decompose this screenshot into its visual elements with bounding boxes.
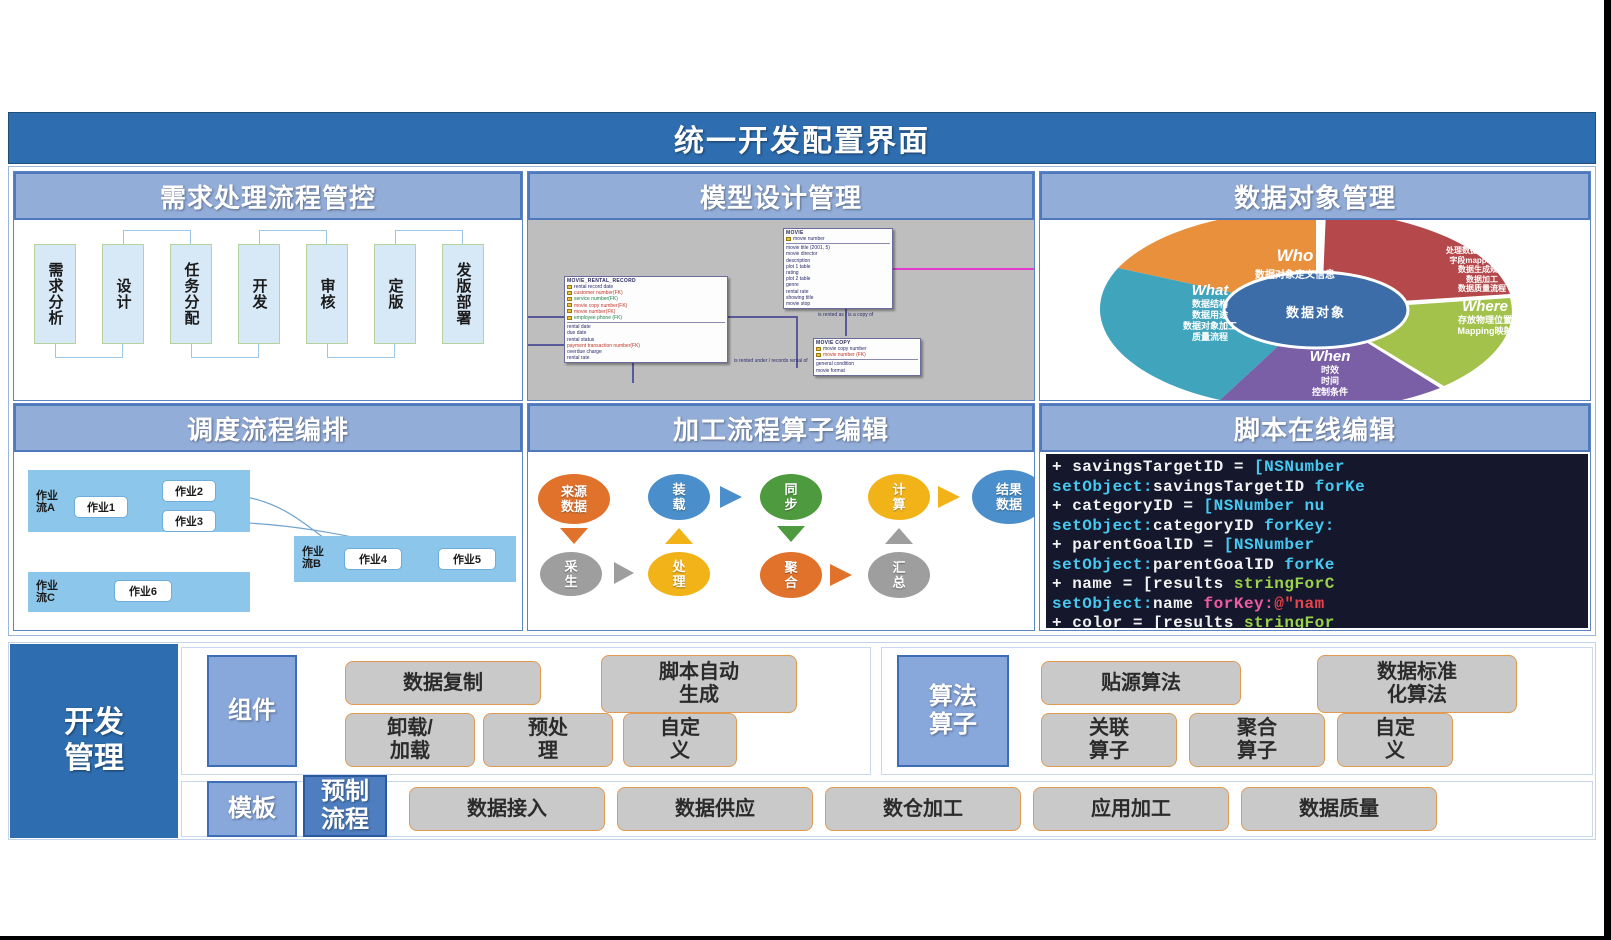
chip-source-adherence-algorithm[interactable]: 贴源算法 [1041,661,1241,705]
er-diagram-canvas[interactable]: MOVIE_RENTAL_RECORD rental record date c… [528,220,1034,400]
chip-custom-component[interactable]: 自定义 [623,713,737,767]
code-line: + name = [results stringForC [1052,575,1588,595]
chip-script-auto-generation[interactable]: 脚本自动生成 [601,655,797,713]
chip-aggregation-operator[interactable]: 聚合算子 [1189,713,1325,767]
operator-node-source[interactable]: 来源数据 [538,474,610,524]
code-line: setObject:savingsTargetID forKe [1052,478,1588,498]
chip-data-replication[interactable]: 数据复制 [345,661,541,705]
chip-data-ingestion[interactable]: 数据接入 [409,787,605,831]
code-line: setObject:name forKey:@"nam [1052,595,1588,615]
er-field-row: movie format [816,368,918,374]
code-line: + savingsTargetID = [NSNumber [1052,458,1588,478]
flow-step-4[interactable]: 审核 [306,244,348,344]
job-node-5[interactable]: 作业5 [438,548,496,570]
operator-node-summary[interactable]: 汇总 [868,552,930,598]
operator-node-extract[interactable]: 采生 [540,552,602,596]
chip-preprocess[interactable]: 预处理 [483,713,613,767]
panel-requirement-process[interactable]: 需求处理流程管控 需求分析 设计 任务分配 开发 审核 定版 发版部署 [13,171,523,401]
development-management-content: 组件 数据复制 脚本自动生成 卸载/加载 预处理 自定义 算法算子 贴源算法 数… [181,647,1593,837]
flow-connector-bottom-3 [327,344,395,358]
job-node-3[interactable]: 作业3 [162,510,216,532]
schedule-group-a-label: 作业流A [36,490,58,514]
panel-body-dataobject: Who 数据对象定义信息 What 数据结构 数据用途 数据对象加工 质量流程 [1040,220,1590,400]
schedule-group-b-label: 作业流B [302,546,324,570]
chip-data-standardization-algorithm[interactable]: 数据标准化算法 [1317,655,1517,713]
arrow-down-source [560,528,588,544]
unified-dev-config-board: 统一开发配置界面 需求处理流程管控 需求分析 设计 任务分配 开发 [8,112,1596,840]
operator-node-process[interactable]: 处理 [648,552,710,596]
er-field-row: movie stop [786,301,890,307]
panel-row-1: 需求处理流程管控 需求分析 设计 任务分配 开发 审核 定版 发版部署 [13,171,1591,401]
er-key-row: movie number [786,236,890,242]
code-line: setObject:parentGoalID forKe [1052,556,1588,576]
operator-node-load[interactable]: 装载 [648,474,710,520]
er-table-movie-copy[interactable]: MOVIE COPY movie copy number movie numbe… [813,338,921,376]
flow-step-0[interactable]: 需求分析 [34,244,76,344]
operator-node-result[interactable]: 结果数据 [972,470,1034,524]
panel-title-operator: 加工流程算子编辑 [673,410,889,447]
panel-header-dataobject: 数据对象管理 [1040,172,1590,220]
operator-node-merge[interactable]: 聚合 [760,552,822,598]
er-connector-left-b [528,344,568,346]
right-edge-trim [1604,0,1611,940]
donut-center-label: 数据对象 [1224,302,1408,321]
panel-header-schedule: 调度流程编排 [14,404,522,452]
er-table-movie-rental-record[interactable]: MOVIE_RENTAL_RECORD rental record date c… [564,276,728,363]
er-key-row: movie number (FK) [816,352,918,358]
flow-step-1[interactable]: 设计 [102,244,144,344]
category-tile-template[interactable]: 模板 [207,781,297,837]
arrow-down-sync [777,526,805,542]
panel-data-object[interactable]: 数据对象管理 [1039,171,1591,401]
data-object-donut-chart[interactable]: Who 数据对象定义信息 What 数据结构 数据用途 数据对象加工 质量流程 [1040,220,1590,400]
chip-data-supply[interactable]: 数据供应 [617,787,813,831]
arrow-right-load [720,486,742,508]
requirement-flow-diagram: 需求分析 设计 任务分配 开发 审核 定版 发版部署 [28,230,508,360]
flow-step-6[interactable]: 发版部署 [442,244,484,344]
panel-title-script: 脚本在线编辑 [1234,410,1396,447]
schedule-group-c-label: 作业流C [36,580,58,604]
operator-node-sync[interactable]: 同步 [760,474,822,520]
panel-body-requirement: 需求分析 设计 任务分配 开发 审核 定版 发版部署 [14,220,522,400]
panel-script-editor[interactable]: 脚本在线编辑 + savingsTargetID = [NSNumber set… [1039,403,1591,631]
panel-model-design[interactable]: 模型设计管理 [527,171,1035,401]
code-line: + color = [results stringFor [1052,614,1588,628]
arrow-right-compute [938,486,960,508]
job-node-2[interactable]: 作业2 [162,480,216,502]
category-tile-preset-flow[interactable]: 预制流程 [303,775,387,837]
panel-schedule-orchestration[interactable]: 调度流程编排 作业流A 作业1 作业2 [13,403,523,631]
page-title: 统一开发配置界面 [674,116,930,160]
er-connector-mid [728,316,798,318]
segment-label-when: When 时效 时间 控制条件 [1250,348,1410,398]
board-title-bar: 统一开发配置界面 [8,112,1596,164]
job-node-6[interactable]: 作业6 [114,580,172,602]
er-key-row: employee phone (FK) [567,315,725,321]
flow-connector-bottom-2 [191,344,259,358]
code-editor-surface[interactable]: + savingsTargetID = [NSNumber setObject:… [1046,454,1588,628]
panel-title-dataobject: 数据对象管理 [1234,178,1396,215]
er-relation-label-0: is rented as / is a copy of [818,312,873,318]
development-management-title: 开发管理 [64,705,124,777]
panel-title-schedule: 调度流程编排 [187,410,349,447]
segment-label-how: How 处理数据对象的方法 字段mapping信息 数据生成规则 数据加工 数据… [1392,228,1572,294]
chip-warehouse-processing[interactable]: 数仓加工 [825,787,1021,831]
panel-header-script: 脚本在线编辑 [1040,404,1590,452]
flow-step-5[interactable]: 定版 [374,244,416,344]
er-connector-left-a [528,316,568,318]
er-table-movie[interactable]: MOVIE movie number movie title (2001, 5)… [783,228,893,309]
er-relation-label-1: is rented under / records rental of [734,358,808,364]
arrow-up-summary [885,528,913,544]
category-tile-algorithm[interactable]: 算法算子 [897,655,1009,767]
chip-custom-algorithm[interactable]: 自定义 [1337,713,1453,767]
panel-header-operator: 加工流程算子编辑 [528,404,1034,452]
code-line: + categoryID = [NSNumber nu [1052,497,1588,517]
operator-node-compute[interactable]: 计算 [868,474,930,520]
panels-frame: 需求处理流程管控 需求分析 设计 任务分配 开发 审核 定版 发版部署 [8,166,1596,636]
chip-association-operator[interactable]: 关联算子 [1041,713,1177,767]
panel-title-model: 模型设计管理 [700,178,862,215]
schedule-group-a[interactable] [28,470,250,532]
job-node-4[interactable]: 作业4 [344,548,402,570]
development-management-title-block: 开发管理 [10,644,178,838]
arrow-up-process [665,528,693,544]
panel-body-operator: 来源数据 采生 处理 装载 同步 聚合 汇总 [528,452,1034,630]
flow-connector-top-1 [123,230,191,244]
panel-header-requirement: 需求处理流程管控 [14,172,522,220]
panel-row-2: 调度流程编排 作业流A 作业1 作业2 [13,403,1591,631]
segment-label-who: Who 数据对象定义信息 [1190,246,1400,281]
panel-operator-editor[interactable]: 加工流程算子编辑 来源数据 采生 处理 装载 同步 聚合 [527,403,1035,631]
arrow-right-merge [830,564,852,586]
flow-connector-top-3 [395,230,463,244]
panel-body-model: MOVIE_RENTAL_RECORD rental record date c… [528,220,1034,400]
arrow-right-extract [614,562,634,584]
job-node-1[interactable]: 作业1 [74,496,128,518]
segment-label-where: Where 存放物理位置 Mapping映射 [1410,298,1560,337]
flow-connector-bottom-1 [55,344,123,358]
panel-body-schedule: 作业流A 作业1 作业2 作业3 作业流B 作业4 作业5 作业流C 作业6 [14,452,522,630]
code-line: + parentGoalID = [NSNumber [1052,536,1588,556]
chip-data-quality[interactable]: 数据质量 [1241,787,1437,831]
flow-connector-top-2 [259,230,327,244]
panel-title-requirement: 需求处理流程管控 [160,178,376,215]
code-line: setObject:categoryID forKey: [1052,517,1588,537]
flow-step-3[interactable]: 开发 [238,244,280,344]
er-field-row: rental rate [567,355,725,361]
er-connector-pink [886,268,1034,270]
chip-unload-load[interactable]: 卸载/加载 [345,713,475,767]
bottom-edge-trim [0,936,1611,940]
development-management-section: 开发管理 组件 数据复制 脚本自动生成 卸载/加载 预处理 自定义 算法算子 贴… [8,642,1596,840]
screenshot-root: 统一开发配置界面 需求处理流程管控 需求分析 设计 任务分配 开发 [0,0,1611,940]
panel-header-model: 模型设计管理 [528,172,1034,220]
chip-application-processing[interactable]: 应用加工 [1033,787,1229,831]
category-tile-component[interactable]: 组件 [207,655,297,767]
flow-step-2[interactable]: 任务分配 [170,244,212,344]
panel-body-script: + savingsTargetID = [NSNumber setObject:… [1040,452,1590,630]
